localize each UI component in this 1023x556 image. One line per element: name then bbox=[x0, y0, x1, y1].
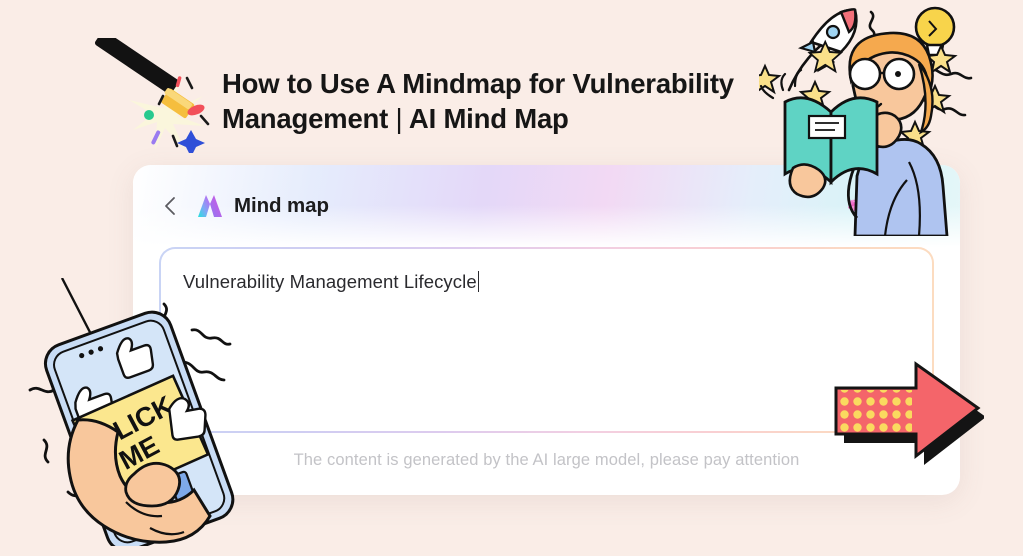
page-title-line1: How to Use A Mindmap for Vulnerability bbox=[222, 68, 734, 99]
thinking-person-illustration bbox=[759, 0, 1023, 236]
mind-map-logo-icon bbox=[197, 194, 223, 218]
chevron-left-icon[interactable] bbox=[161, 192, 181, 220]
page-title: How to Use A Mindmap for Vulnerability M… bbox=[222, 66, 797, 136]
ai-disclaimer: The content is generated by the AI large… bbox=[294, 451, 800, 470]
title-separator: | bbox=[396, 101, 403, 136]
dialog-title: Mind map bbox=[234, 194, 329, 218]
page-title-line2-a: Management bbox=[222, 103, 388, 134]
page-title-line2-b: AI Mind Map bbox=[409, 103, 569, 134]
click-me-phone-illustration: CLICK ME bbox=[26, 278, 254, 546]
magic-wand-icon bbox=[85, 38, 220, 153]
right-arrow-illustration bbox=[812, 356, 984, 478]
text-caret bbox=[478, 271, 479, 292]
